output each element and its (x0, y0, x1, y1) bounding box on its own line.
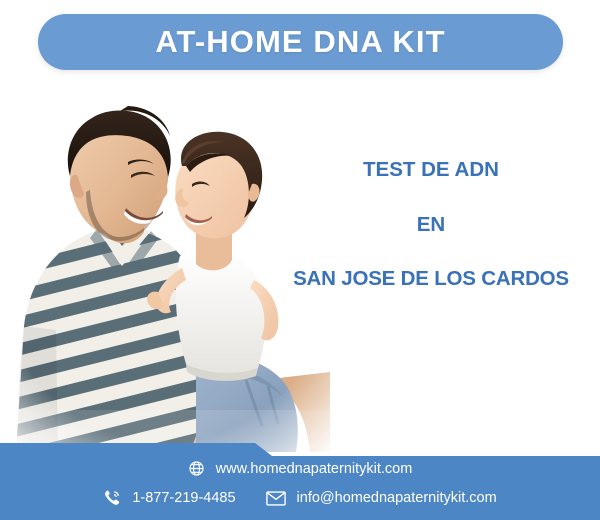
headline-line-2: EN (262, 215, 600, 236)
phone-icon (103, 489, 121, 507)
footer-contact-row: 1-877-219-4485 info@homednapaternitykit.… (0, 489, 600, 507)
banner-pill: AT-HOME DNA KIT (38, 14, 563, 70)
headline-line-1: TEST DE ADN (262, 160, 600, 181)
email-item[interactable]: info@homednapaternitykit.com (266, 490, 497, 506)
website-label: www.homednapaternitykit.com (216, 461, 413, 477)
phone-item[interactable]: 1-877-219-4485 (103, 489, 235, 507)
footer-website-row: www.homednapaternitykit.com (0, 460, 600, 477)
envelope-icon (266, 491, 286, 506)
globe-icon (188, 460, 205, 477)
email-label: info@homednapaternitykit.com (297, 490, 497, 506)
phone-label: 1-877-219-4485 (132, 490, 235, 506)
banner-title: AT-HOME DNA KIT (155, 24, 445, 60)
headline-block: TEST DE ADN EN SAN JOSE DE LOS CARDOS (262, 160, 600, 290)
headline-line-3: SAN JOSE DE LOS CARDOS (262, 269, 600, 290)
website-item[interactable]: www.homednapaternitykit.com (188, 460, 413, 477)
